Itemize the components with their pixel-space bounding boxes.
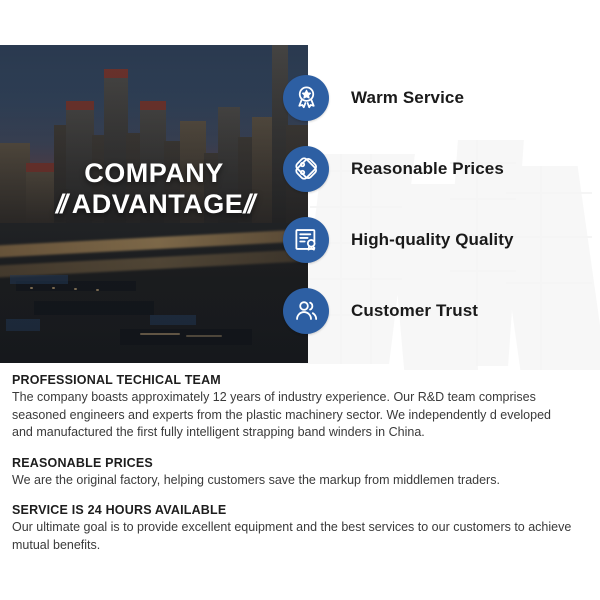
section-body: The company boasts approximately 12 year… — [12, 389, 572, 442]
slash-right: // — [243, 188, 252, 220]
feature-item-warm-service[interactable]: Warm Service — [283, 62, 593, 133]
feature-label: High-quality Quality — [351, 230, 514, 250]
section-body: We are the original factory, helping cus… — [12, 472, 572, 490]
hero-title-line-2-text: ADVANTAGE — [72, 189, 244, 219]
award-medal-icon — [283, 75, 329, 121]
section-heading: SERVICE IS 24 HOURS AVAILABLE — [12, 503, 572, 517]
feature-label: Warm Service — [351, 88, 464, 108]
feature-item-reasonable-prices[interactable]: Reasonable Prices — [283, 133, 593, 204]
feature-label: Customer Trust — [351, 301, 478, 321]
feature-item-customer-trust[interactable]: Customer Trust — [283, 275, 593, 346]
hero-title-line-2: // ADVANTAGE// — [0, 188, 308, 220]
description-section: PROFESSIONAL TECHICAL TEAM The company b… — [12, 373, 572, 554]
feature-item-high-quality[interactable]: High-quality Quality — [283, 204, 593, 275]
slash-left: // — [56, 188, 65, 220]
section-body: Our ultimate goal is to provide excellen… — [12, 519, 572, 554]
section-heading: PROFESSIONAL TECHICAL TEAM — [12, 373, 572, 387]
company-advantage-page: COMPANY // ADVANTAGE// Warm Service — [0, 0, 600, 600]
section-heading: REASONABLE PRICES — [12, 456, 572, 470]
section-reasonable-prices: REASONABLE PRICES We are the original fa… — [12, 456, 572, 490]
certificate-icon — [283, 217, 329, 263]
feature-label: Reasonable Prices — [351, 159, 504, 179]
section-service-24-hours: SERVICE IS 24 HOURS AVAILABLE Our ultima… — [12, 503, 572, 554]
hero-title-line-1: COMPANY — [0, 158, 308, 188]
users-group-icon — [283, 288, 329, 334]
hero-title: COMPANY // ADVANTAGE// — [0, 158, 308, 220]
price-tags-icon — [283, 146, 329, 192]
section-professional-technical-team: PROFESSIONAL TECHICAL TEAM The company b… — [12, 373, 572, 442]
feature-list: Warm Service Reasonable Prices — [283, 62, 593, 346]
